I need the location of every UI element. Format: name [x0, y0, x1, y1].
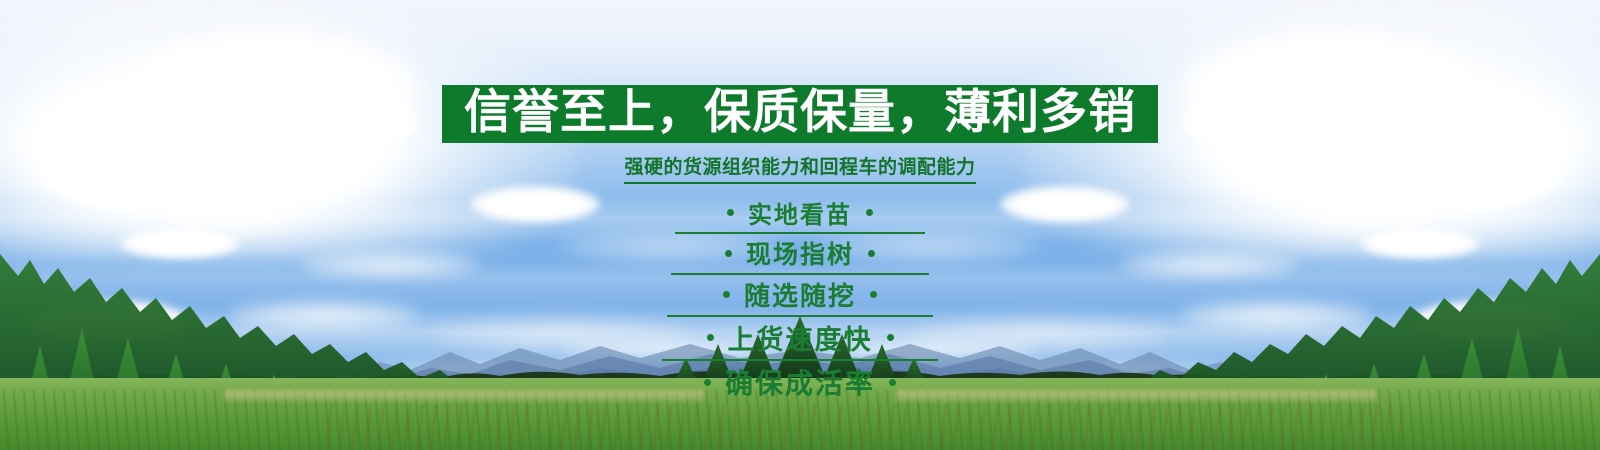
headline-banner: 信誉至上，保质保量，薄利多销	[442, 85, 1158, 143]
bullet-dot-icon	[727, 209, 734, 216]
subtitle-text: 强硬的货源组织能力和回程车的调配能力	[624, 152, 975, 184]
field-strip-right	[896, 390, 1376, 402]
bullet-dot-icon	[723, 291, 730, 298]
feature-item[interactable]: 实地看苗	[675, 194, 925, 234]
bullet-dot-icon	[866, 209, 873, 216]
field-furrows	[320, 404, 1408, 450]
feature-item[interactable]: 上货速度快	[662, 317, 938, 361]
feature-list: 实地看苗 现场指树 随选随挖 上货速度快 确保成活率	[658, 194, 942, 404]
bullet-dot-icon	[868, 250, 875, 257]
feature-label: 上货速度快	[728, 318, 873, 357]
banner-stage: 信誉至上，保质保量，薄利多销 强硬的货源组织能力和回程车的调配能力 实地看苗 现…	[0, 0, 1600, 450]
feature-label: 确保成活率	[725, 362, 875, 402]
bullet-dot-icon	[870, 291, 877, 298]
feature-label: 随选随挖	[744, 276, 856, 313]
feature-item[interactable]: 现场指树	[671, 234, 929, 275]
feature-item[interactable]: 确保成活率	[658, 361, 942, 404]
bullet-dot-icon	[707, 334, 714, 341]
bullet-dot-icon	[887, 334, 894, 341]
bullet-dot-icon	[704, 379, 711, 386]
feature-label: 实地看苗	[748, 195, 852, 230]
bullet-dot-icon	[889, 379, 896, 386]
headline-text: 信誉至上，保质保量，薄利多销	[464, 89, 1136, 136]
feature-label: 现场指树	[746, 235, 854, 271]
feature-item[interactable]: 随选随挖	[667, 275, 933, 317]
field-strip-left	[224, 390, 704, 402]
bullet-dot-icon	[725, 250, 732, 257]
